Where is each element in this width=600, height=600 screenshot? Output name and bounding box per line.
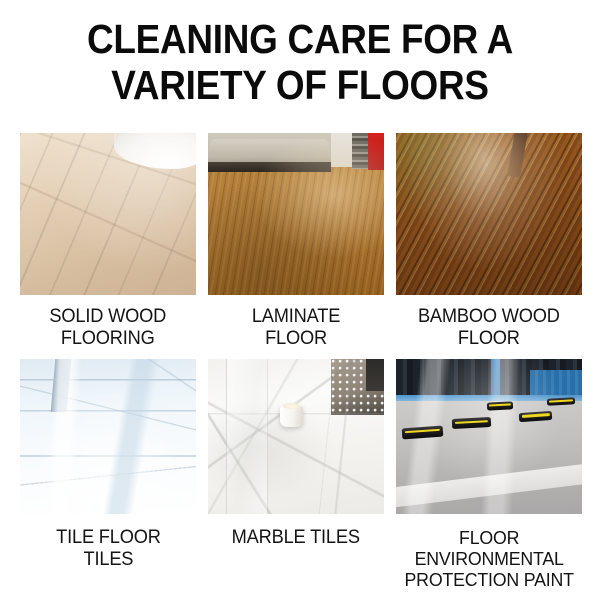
grid-item-floor-environmental-protection-paint[interactable]: FLOOR ENVIRONMENTAL PROTECTION PAINT (396, 359, 582, 590)
grid-item-solid-wood-flooring[interactable]: SOLID WOOD FLOORING (20, 133, 196, 350)
page-title: CLEANING CARE FOR A VARIETY OF FLOORS (0, 16, 600, 108)
caption-bamboo-wood-floor: BAMBOO WOOD FLOOR (418, 306, 560, 350)
poster-root: CLEANING CARE FOR A VARIETY OF FLOORS SO… (0, 0, 600, 600)
floor-type-grid: SOLID WOOD FLOORING LAMINATE FLOOR BAMBO… (20, 133, 582, 590)
tile-reflections (20, 359, 196, 514)
glass-reflection-panel (226, 359, 268, 514)
grid-item-marble-tiles[interactable]: MARBLE TILES (208, 359, 384, 590)
photo-tile-floor-tiles (20, 359, 196, 514)
caption-floor-environmental-protection-paint: FLOOR ENVIRONMENTAL PROTECTION PAINT (404, 527, 573, 590)
candle-shape (280, 406, 303, 428)
floor-sheen (208, 133, 384, 295)
floor-gloss (396, 133, 582, 295)
caption-laminate-floor: LAMINATE FLOOR (252, 306, 340, 350)
grid-item-tile-floor-tiles[interactable]: TILE FLOOR TILES (20, 359, 196, 590)
caption-solid-wood-flooring: SOLID WOOD FLOORING (50, 306, 167, 350)
grid-item-laminate-floor[interactable]: LAMINATE FLOOR (208, 133, 384, 350)
title-line-1: CLEANING CARE FOR A (30, 16, 570, 62)
photo-bamboo-wood-floor (396, 133, 582, 295)
caption-tile-floor-tiles: TILE FLOOR TILES (56, 527, 161, 571)
photo-floor-environmental-protection-paint (396, 359, 582, 514)
caption-marble-tiles: MARBLE TILES (232, 527, 360, 549)
title-line-2: VARIETY OF FLOORS (30, 62, 570, 108)
wheel-stop (546, 397, 574, 406)
grid-item-bamboo-wood-floor[interactable]: BAMBOO WOOD FLOOR (396, 133, 582, 350)
photo-solid-wood-flooring (20, 133, 196, 295)
wheel-stop (452, 417, 492, 429)
photo-marble-tiles (208, 359, 384, 514)
photo-laminate-floor (208, 133, 384, 295)
